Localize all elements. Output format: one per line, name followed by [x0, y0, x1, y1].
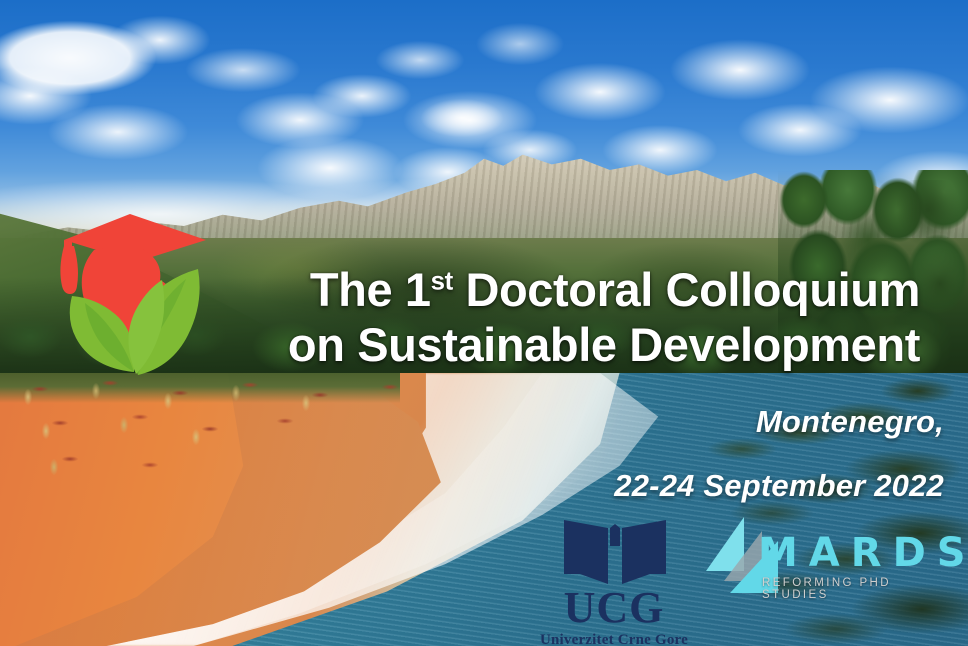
sun-loungers-and-umbrellas [0, 373, 520, 493]
open-book-icon [560, 516, 670, 588]
mards-wordmark: MARDS [758, 533, 968, 573]
conference-poster: The 1st Doctoral Colloquium on Sustainab… [0, 0, 968, 646]
event-dates: 22-24 September 2022 [614, 468, 944, 504]
title-line-1-post: Doctoral Colloquium [453, 263, 920, 316]
event-location: Montenegro, [756, 404, 944, 440]
mards-logo: MARDS REFORMING PHD STUDIES [700, 515, 950, 605]
poster-title: The 1st Doctoral Colloquium on Sustainab… [0, 262, 944, 372]
title-line-1: The 1st Doctoral Colloquium [0, 262, 920, 317]
ucg-full-name: Univerzitet Crne Gore [524, 632, 704, 646]
title-line-2: on Sustainable Development [0, 317, 920, 372]
title-ordinal-suffix: st [431, 267, 453, 295]
ucg-acronym: UCG [524, 586, 704, 630]
title-line-1-pre: The 1 [310, 263, 431, 316]
mards-tagline: REFORMING PHD STUDIES [762, 577, 950, 601]
ucg-logo: UCG Univerzitet Crne Gore [524, 516, 704, 646]
